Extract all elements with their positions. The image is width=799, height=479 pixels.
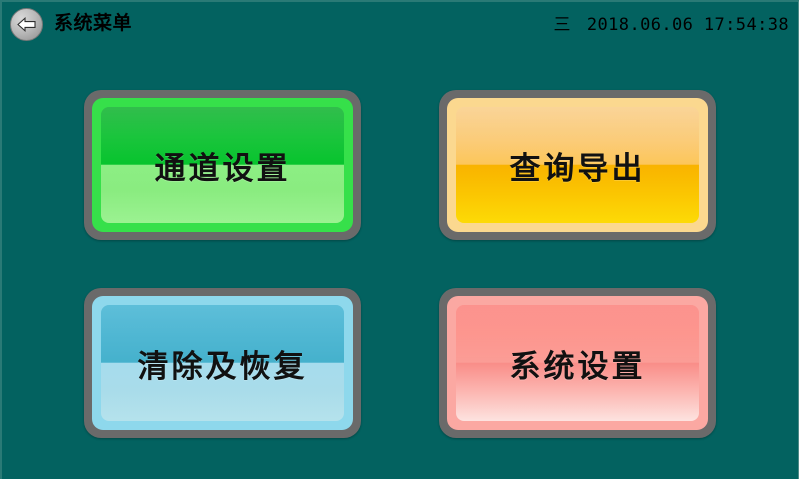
datetime-display: 三2018.06.06 17:54:38 bbox=[554, 10, 790, 35]
back-arrow-icon bbox=[14, 12, 39, 37]
menu-button-label: 系统设置 bbox=[510, 341, 646, 386]
date-label: 2018.06.06 bbox=[587, 15, 693, 35]
system-menu-screen: 系统菜单 三2018.06.06 17:54:38 通道设置 查询导出 清 bbox=[0, 0, 799, 479]
button-face: 查询导出 bbox=[456, 107, 699, 223]
menu-button-system-settings[interactable]: 系统设置 bbox=[439, 288, 716, 438]
menu-button-label: 清除及恢复 bbox=[138, 341, 308, 386]
button-face: 系统设置 bbox=[456, 305, 699, 421]
menu-button-channel-settings[interactable]: 通道设置 bbox=[84, 90, 361, 240]
button-bezel: 通道设置 bbox=[92, 98, 353, 232]
title-bar: 系统菜单 三2018.06.06 17:54:38 bbox=[2, 2, 799, 46]
time-label: 17:54:38 bbox=[704, 15, 789, 35]
weekday-label: 三 bbox=[554, 15, 571, 35]
button-face: 通道设置 bbox=[101, 107, 344, 223]
button-face: 清除及恢复 bbox=[101, 305, 344, 421]
button-bezel: 系统设置 bbox=[447, 296, 708, 430]
button-bezel: 清除及恢复 bbox=[92, 296, 353, 430]
menu-button-label: 查询导出 bbox=[510, 143, 646, 188]
menu-button-label: 通道设置 bbox=[155, 143, 291, 188]
menu-button-grid: 通道设置 查询导出 清除及恢复 系统设置 bbox=[84, 90, 724, 440]
button-bezel: 查询导出 bbox=[447, 98, 708, 232]
menu-button-clear-restore[interactable]: 清除及恢复 bbox=[84, 288, 361, 438]
menu-button-query-export[interactable]: 查询导出 bbox=[439, 90, 716, 240]
back-button[interactable] bbox=[10, 8, 43, 41]
page-title: 系统菜单 bbox=[54, 11, 132, 35]
